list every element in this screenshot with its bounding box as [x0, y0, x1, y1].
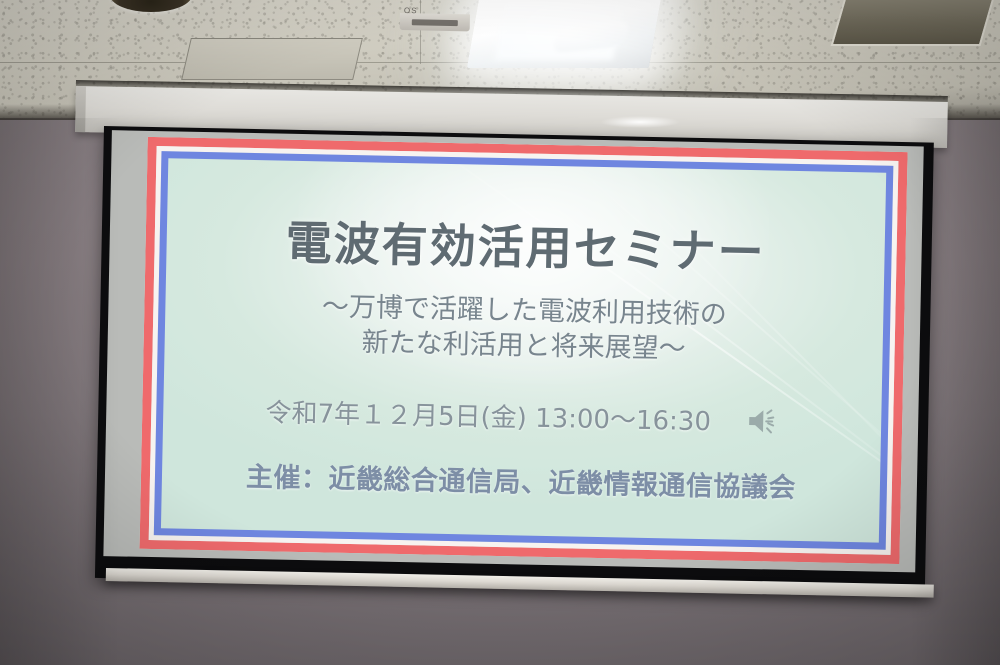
screen-brand-label: OS [404, 6, 428, 15]
projection-screen: 電波有効活用セミナー 〜万博で活躍した電波利用技術の 新たな利活用と将来展望〜 … [95, 126, 934, 595]
ceiling-air-vent [831, 0, 996, 46]
slide-date: 令和7年１２月5日(金) 13:00〜16:30 [265, 392, 711, 438]
projected-slide: 電波有効活用セミナー 〜万博で活躍した電波利用技術の 新たな利活用と将来展望〜 … [140, 137, 908, 564]
slide-host-line: 主催：近畿総合通信局、近畿情報通信協議会 [246, 455, 797, 505]
slide-title: 電波有効活用セミナー [285, 207, 766, 283]
slide-subtitle: 〜万博で活躍した電波利用技術の 新たな利活用と将来展望〜 [321, 289, 727, 367]
housing-highlight [600, 116, 680, 128]
slide-content: 電波有効活用セミナー 〜万博で活躍した電波利用技術の 新たな利活用と将来展望〜 … [161, 158, 886, 542]
speaker-sound-icon[interactable] [745, 406, 780, 437]
slide-date-row: 令和7年１２月5日(金) 13:00〜16:30 [163, 390, 882, 441]
room-scene: 電波有効活用セミナー 〜万博で活躍した電波利用技術の 新たな利活用と将来展望〜 … [0, 0, 1000, 665]
housing-end-cap [75, 86, 86, 132]
ceiling-access-panel [181, 38, 363, 80]
slide-subtitle-line-2: 新たな利活用と将来展望〜 [321, 325, 727, 368]
screen-pull-handle[interactable] [400, 13, 470, 31]
